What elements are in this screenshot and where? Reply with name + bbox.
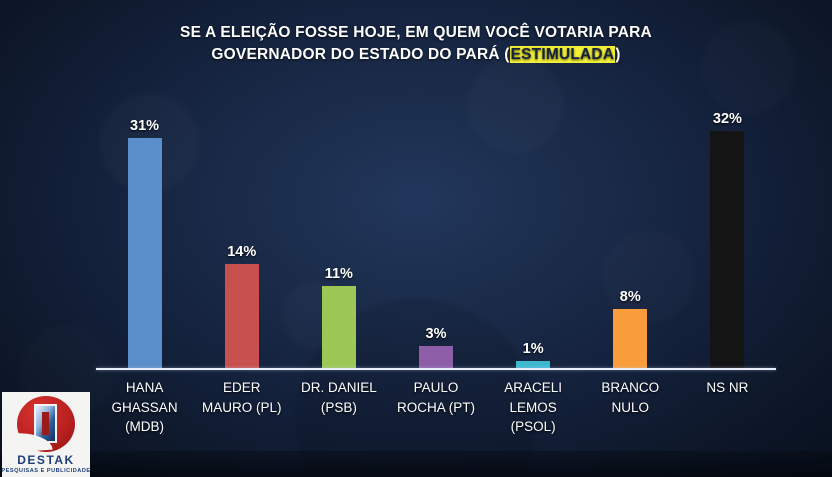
x-axis-label-line: ARACELI: [485, 378, 582, 398]
bar-rect: [322, 286, 356, 368]
bar-value-label: 3%: [426, 326, 447, 343]
x-axis-label-line: (PSB): [290, 398, 387, 418]
plot-area: 31%14%11%3%1%8%32%: [96, 86, 776, 370]
destak-logo: DESTAK PESQUISAS E PUBLICIDADE: [2, 392, 90, 477]
bar-group: 11%: [322, 266, 356, 368]
logo-tagline: PESQUISAS E PUBLICIDADE: [2, 467, 90, 476]
logo-name: DESTAK: [17, 454, 74, 467]
bar-rect: [710, 131, 744, 368]
bar-group: 8%: [613, 289, 647, 368]
bar-rect: [419, 346, 453, 368]
x-axis-label-line: PAULO: [387, 378, 484, 398]
bar-rect: [613, 309, 647, 368]
bar-group: 31%: [128, 118, 162, 368]
x-axis-label-line: (PSOL): [485, 417, 582, 437]
x-axis-line: [96, 368, 776, 370]
bar-rect: [225, 264, 259, 368]
logo-mark-icon: [15, 395, 77, 453]
presentation-slide: SE A ELEIÇÃO FOSSE HOJE, EM QUEM VOCÊ VO…: [0, 0, 832, 477]
bar-value-label: 8%: [620, 289, 641, 306]
bar-value-label: 11%: [325, 266, 353, 283]
title-line-1: SE A ELEIÇÃO FOSSE HOJE, EM QUEM VOCÊ VO…: [0, 22, 832, 44]
x-axis-label: PAULOROCHA (PT): [387, 378, 484, 417]
title-highlight: ESTIMULADA: [510, 46, 616, 63]
bar-value-label: 31%: [130, 118, 159, 135]
title-line-2-prefix: GOVERNADOR DO ESTADO DO PARÁ (: [211, 46, 509, 63]
bar-group: 3%: [419, 326, 453, 368]
bar-chart: 31%14%11%3%1%8%32%: [96, 86, 776, 370]
x-axis-label: HANAGHASSAN(MDB): [96, 378, 193, 437]
x-axis-category-labels: HANAGHASSAN(MDB)EDERMAURO (PL)DR. DANIEL…: [96, 378, 776, 456]
title-line-2: GOVERNADOR DO ESTADO DO PARÁ (ESTIMULADA…: [0, 44, 832, 66]
x-axis-label: ARACELILEMOS(PSOL): [485, 378, 582, 437]
x-axis-label: NS NR: [679, 378, 776, 398]
x-axis-label-line: BRANCO: [582, 378, 679, 398]
x-axis-label-line: LEMOS: [485, 398, 582, 418]
x-axis-label-line: EDER: [193, 378, 290, 398]
bar-value-label: 14%: [227, 244, 256, 261]
x-axis-label-line: NULO: [582, 398, 679, 418]
bar-group: 1%: [516, 341, 550, 368]
slide-title: SE A ELEIÇÃO FOSSE HOJE, EM QUEM VOCÊ VO…: [0, 22, 832, 66]
x-axis-label-line: GHASSAN: [96, 398, 193, 418]
x-axis-label-line: MAURO (PL): [193, 398, 290, 418]
bar-value-label: 32%: [713, 111, 742, 128]
title-line-2-suffix: ): [615, 46, 620, 63]
bar-value-label: 1%: [523, 341, 544, 358]
x-axis-label-line: (MDB): [96, 417, 193, 437]
bar-rect: [516, 361, 550, 368]
x-axis-label: BRANCONULO: [582, 378, 679, 417]
x-axis-label-line: DR. DANIEL: [290, 378, 387, 398]
bar-group: 14%: [225, 244, 259, 368]
x-axis-label: EDERMAURO (PL): [193, 378, 290, 417]
x-axis-label: DR. DANIEL(PSB): [290, 378, 387, 417]
x-axis-label-line: HANA: [96, 378, 193, 398]
x-axis-label-line: ROCHA (PT): [387, 398, 484, 418]
bar-group: 32%: [710, 111, 744, 368]
bar-rect: [128, 138, 162, 368]
x-axis-label-line: NS NR: [679, 378, 776, 398]
